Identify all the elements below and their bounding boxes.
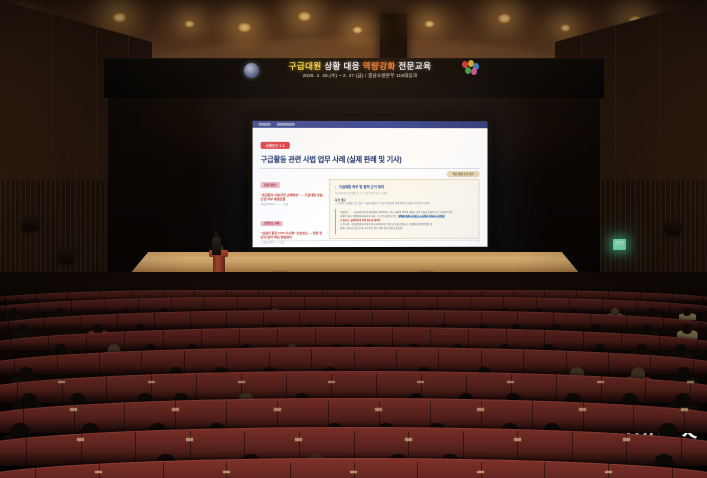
banner-subtitle: 2026. 2. 25.(수) ~ 2. 27.(금) / 충남소방본부 119… — [262, 74, 458, 79]
seat-divider — [124, 401, 125, 431]
seat-divider — [690, 374, 691, 401]
seat-divider — [481, 401, 482, 431]
seat-number-plate — [507, 381, 514, 384]
seat-number-plate — [172, 408, 179, 411]
seat-number-plate — [514, 438, 521, 441]
case-card-text: "심정지 환자 CPR 미시행" 논란보도 — 현장 판단의 법적 책임 쟁점정… — [261, 231, 323, 240]
seat-number-plate — [238, 381, 245, 384]
legal-basis-panel: ♪구급대원 의무 및 법적 근거 정리 응급의료에 관한 법률 제 ○조 / 소… — [329, 179, 480, 240]
seat-divider — [48, 329, 49, 349]
seat-number-plate — [579, 408, 586, 411]
seat-divider — [138, 298, 139, 312]
seat-divider — [331, 374, 332, 401]
seat-divider — [663, 312, 664, 329]
case-card-text: "응급환자 이송지연 손해배상" — 구급대원 과실인정 여부 쟁점판결 — [261, 193, 323, 202]
seat-divider — [583, 401, 584, 431]
fire-service-emblem-icon — [244, 63, 259, 78]
seat-divider — [523, 350, 524, 374]
seat-divider — [74, 401, 75, 431]
seat-divider — [286, 374, 287, 401]
audience-member-head — [682, 324, 692, 334]
stage-floor-sheen — [120, 256, 590, 272]
auditorium-photo: 구급대원 상황 대응 역량강화 전문교육 2026. 2. 25.(수) ~ 2… — [0, 0, 707, 478]
summary-pill-label: 핵심 쟁점 요약 정리 — [447, 171, 480, 177]
banner-title-part2: 상황 — [324, 61, 340, 71]
panel-section-label: 사건 개요 — [335, 197, 474, 201]
seat-divider — [117, 312, 118, 329]
audience-member-head — [675, 344, 687, 356]
seat-divider — [26, 431, 27, 464]
slide-footer-rule — [261, 240, 480, 244]
seat-divider — [517, 431, 518, 464]
seat-divider — [14, 350, 15, 374]
seat-number-plate — [77, 438, 84, 441]
banner-title-part5: 전문교육 — [398, 61, 431, 71]
seat-divider — [106, 374, 107, 401]
seat-number-plate — [597, 381, 604, 384]
wall-speaker — [21, 217, 38, 232]
seat-divider — [105, 298, 106, 312]
seat-divider — [556, 374, 557, 401]
seat-number-plate — [405, 438, 412, 441]
case-card-sub: 대법원 2019다○○○○○ 판결 — [261, 203, 323, 206]
seat-divider — [184, 350, 185, 374]
ceiling-spotlight — [297, 11, 312, 22]
exit-sign — [613, 239, 626, 250]
seat-divider — [681, 431, 682, 464]
ceiling-spotlight — [497, 13, 512, 24]
seat-divider — [35, 462, 36, 478]
ceiling-spotlight — [352, 26, 363, 34]
seat-number-plate — [477, 408, 484, 411]
seat-divider — [163, 329, 164, 349]
seat-divider — [626, 431, 627, 464]
seat-divider — [659, 329, 660, 349]
seat-divider — [62, 374, 63, 401]
seat-divider — [572, 431, 573, 464]
seat-divider — [38, 298, 39, 312]
event-banner: 구급대원 상황 대응 역량강화 전문교육 2026. 2. 25.(수) ~ 2… — [262, 62, 458, 92]
seat-divider — [190, 431, 191, 464]
seat-number-plate — [70, 408, 77, 411]
slide-divider — [261, 168, 480, 169]
seat-divider — [226, 401, 227, 431]
seat-divider — [376, 374, 377, 401]
presenter-body — [212, 237, 221, 255]
case-card-badge: 언론보도 사례 — [261, 221, 283, 227]
seat-divider — [532, 401, 533, 431]
seat-divider — [645, 374, 646, 401]
seat-divider — [417, 462, 418, 478]
seat-divider — [703, 291, 704, 302]
seat-number-plate — [274, 408, 281, 411]
seat-divider — [81, 312, 82, 329]
seat-divider — [171, 298, 172, 312]
seat-divider — [566, 350, 567, 374]
seat-divider — [602, 298, 603, 312]
seat-divider — [201, 329, 202, 349]
seat-divider — [141, 350, 142, 374]
seat-divider — [263, 312, 264, 329]
seat-number-plate — [186, 438, 193, 441]
audience-member-head — [677, 367, 691, 381]
panel-heading-text: 구급대원 의무 및 법적 근거 정리 — [339, 185, 384, 189]
seat-number-plate — [148, 381, 155, 384]
balloon-cluster-icon — [460, 60, 480, 78]
seat-divider — [626, 312, 627, 329]
seat-divider — [693, 350, 694, 374]
seat-divider — [601, 374, 602, 401]
panel-meta: 응급의료에 관한 법률 제 ○조 / 소방기본법 제○○조 관련 — [335, 190, 474, 194]
seat-number-plate — [623, 438, 630, 441]
seat-divider — [81, 431, 82, 464]
ceiling-spotlight — [560, 24, 571, 32]
audience-member-head — [18, 324, 28, 334]
seat-divider — [71, 298, 72, 312]
quote-highlight-blue: 명백한 법적 근거없는 소극적인 처치라고 단정할 — [398, 216, 445, 218]
seat-divider — [99, 350, 100, 374]
seat-divider — [697, 329, 698, 349]
seat-divider — [684, 401, 685, 431]
quote-line-text: 하여야 하며, 적법절차에 따라서 기록 · 보고된 내용만으로는 — [340, 216, 397, 218]
slide-badge: 사례연구 1-3 — [261, 142, 290, 149]
ceiling-spotlight — [112, 12, 127, 23]
seat-number-plate — [681, 408, 688, 411]
quote-highlight-red: 수 없다고, 설명의무의 이행 정도에 대하여 — [340, 220, 380, 222]
slide-page-number: 12 — [477, 240, 480, 243]
seat-divider — [608, 350, 609, 374]
seat-divider — [672, 291, 673, 302]
seat-divider — [124, 329, 125, 349]
seat-divider — [175, 401, 176, 431]
audience-seating — [0, 272, 707, 478]
seat-divider — [86, 329, 87, 349]
banner-title: 구급대원 상황 대응 역량강화 전문교육 — [262, 62, 458, 71]
seat-divider — [669, 298, 670, 312]
seat-divider — [672, 462, 673, 478]
seat-divider — [135, 431, 136, 464]
slide-body: 사례연구 1-3 구급활동 관련 사법 업무 사례 (실제 판례 및 기사) 판… — [253, 128, 488, 247]
ceiling-spotlight — [424, 20, 435, 28]
seat-divider — [10, 329, 11, 349]
projected-slide: 사례연구 1-3 구급활동 관련 사법 업무 사례 (실제 판례 및 기사) 판… — [253, 121, 488, 248]
wall-speaker — [664, 221, 681, 236]
seat-divider — [633, 401, 634, 431]
seat-divider — [290, 462, 291, 478]
seat-divider — [226, 312, 227, 329]
seat-divider — [438, 350, 439, 374]
wall-speaker — [58, 249, 75, 263]
presenter — [212, 232, 221, 254]
seat-divider — [583, 329, 584, 349]
seat-divider — [650, 350, 651, 374]
seat-divider — [17, 374, 18, 401]
panel-heading: ♪구급대원 의무 및 법적 근거 정리 — [335, 184, 474, 189]
case-card-badge: 판례 사례 1 — [261, 182, 281, 188]
audience-member-head — [19, 367, 33, 381]
seat-divider — [468, 329, 469, 349]
slide-title: 구급활동 관련 사법 업무 사례 (실제 판례 및 기사) — [261, 155, 480, 165]
banner-title-part1: 구급대원 — [289, 61, 322, 71]
panel-paragraph: ○○소방서 구급대는 신고 접수 후 출동하였으나, 이송 중 환자의 상태 악… — [335, 203, 474, 207]
audience-member-head — [649, 308, 657, 316]
seat-divider — [190, 312, 191, 329]
case-card: 판례 사례 1 "응급환자 이송지연 손해배상" — 구급대원 과실인정 여부 … — [261, 173, 323, 206]
seat-divider — [8, 312, 9, 329]
seat-number-plate — [417, 381, 424, 384]
seat-divider — [163, 462, 164, 478]
seat-number-plate — [328, 381, 335, 384]
seat-divider — [35, 291, 36, 302]
seat-divider — [544, 462, 545, 478]
seat-divider — [636, 298, 637, 312]
seat-divider — [699, 312, 700, 329]
bullet-icon: ♪ — [335, 185, 337, 189]
slide-right-column: 핵심 쟁점 요약 정리 ♪구급대원 의무 및 법적 근거 정리 응급의료에 관한… — [329, 173, 480, 247]
seat-divider — [702, 298, 703, 312]
seat-divider — [154, 312, 155, 329]
audience-member-head — [642, 324, 652, 334]
ceiling-spotlight — [237, 22, 252, 33]
banner-title-part4: 역량강화 — [363, 61, 396, 71]
slide-columns: 판례 사례 1 "응급환자 이송지연 손해배상" — 구급대원 과실인정 여부 … — [261, 173, 480, 247]
seat-number-plate — [295, 438, 302, 441]
seat-divider — [5, 298, 6, 312]
seat-number-plate — [58, 381, 65, 384]
seat-number-plate — [687, 381, 694, 384]
slide-left-column: 판례 사례 1 "응급환자 이송지연 손해배상" — 구급대원 과실인정 여부 … — [261, 173, 323, 247]
seat-number-plate — [375, 408, 382, 411]
projection-screen: 사례연구 1-3 구급활동 관련 사법 업무 사례 (실제 판례 및 기사) 판… — [249, 117, 492, 253]
ceiling-spotlight — [184, 20, 195, 28]
seat-divider — [44, 312, 45, 329]
seat-divider — [57, 350, 58, 374]
court-quote-box: "재판부는 … 구급대원 직무상 주의의무 위반여부는 당시 현장의 객관적 상… — [335, 209, 474, 234]
seat-divider — [196, 374, 197, 401]
quote-line: 한하는 취지로 판단한 바 이 부분은 향후 현장 실무 반영이 필요함." — [340, 227, 470, 231]
seat-divider — [621, 329, 622, 349]
banner-title-part3: 대응 — [344, 61, 360, 71]
